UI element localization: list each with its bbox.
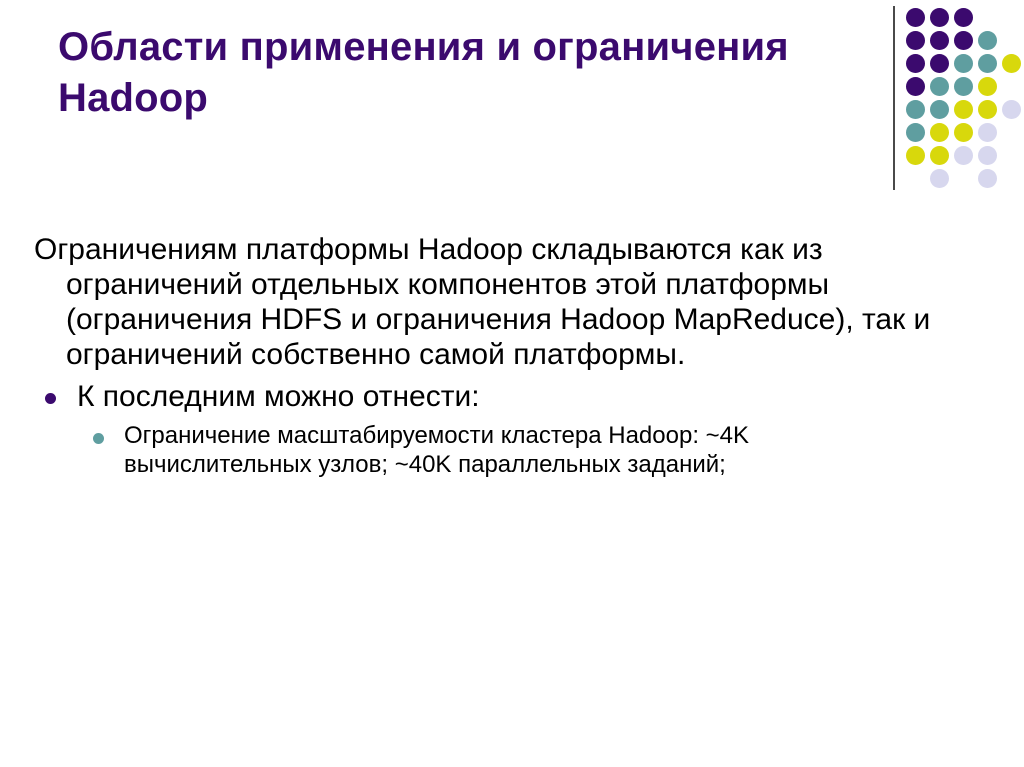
list-item: Ограничение масштабируемости кластера Ha… — [34, 422, 939, 480]
decor-dot — [978, 146, 997, 165]
decor-dot — [906, 146, 925, 165]
decor-dot — [930, 77, 949, 96]
decor-dot — [978, 169, 997, 188]
decor-dot — [954, 54, 973, 73]
title-block: Области применения и ограничения Hadoop — [58, 22, 848, 124]
decor-dot — [954, 8, 973, 27]
slide-canvas: Области применения и ограничения Hadoop … — [0, 0, 1024, 767]
decor-dot — [1002, 100, 1021, 119]
decor-dot — [930, 54, 949, 73]
bullet-marker-icon — [45, 393, 56, 404]
body-content: Ограничениям платформы Hadoop складывают… — [34, 232, 939, 480]
decor-dot — [930, 31, 949, 50]
decor-dot — [954, 146, 973, 165]
decor-dot — [930, 169, 949, 188]
decor-dot — [930, 146, 949, 165]
decor-dot — [906, 8, 925, 27]
dot-grid — [906, 8, 1024, 188]
decor-dot — [906, 31, 925, 50]
intro-paragraph: Ограничениям платформы Hadoop складывают… — [34, 232, 939, 372]
decor-dot — [906, 123, 925, 142]
decor-dot — [954, 123, 973, 142]
decor-dot — [978, 123, 997, 142]
decor-dot — [978, 100, 997, 119]
decor-dot — [930, 123, 949, 142]
decor-dot — [954, 77, 973, 96]
list-item-label: Ограничение масштабируемости кластера Ha… — [124, 422, 749, 478]
decor-dot — [978, 31, 997, 50]
decor-dot — [978, 54, 997, 73]
decorative-dot-motif — [888, 0, 1024, 200]
bullet-marker-icon — [93, 433, 104, 444]
decor-dot — [906, 77, 925, 96]
list-item-label: К последним можно отнести: — [77, 380, 480, 413]
decor-dot — [930, 8, 949, 27]
vertical-rule-divider — [893, 6, 895, 190]
decor-dot — [906, 54, 925, 73]
decor-dot — [906, 100, 925, 119]
decor-dot — [978, 77, 997, 96]
list-item: К последним можно отнести: — [34, 379, 939, 414]
decor-dot — [930, 100, 949, 119]
page-title: Области применения и ограничения Hadoop — [58, 22, 848, 124]
decor-dot — [954, 31, 973, 50]
decor-dot — [1002, 54, 1021, 73]
decor-dot — [954, 100, 973, 119]
